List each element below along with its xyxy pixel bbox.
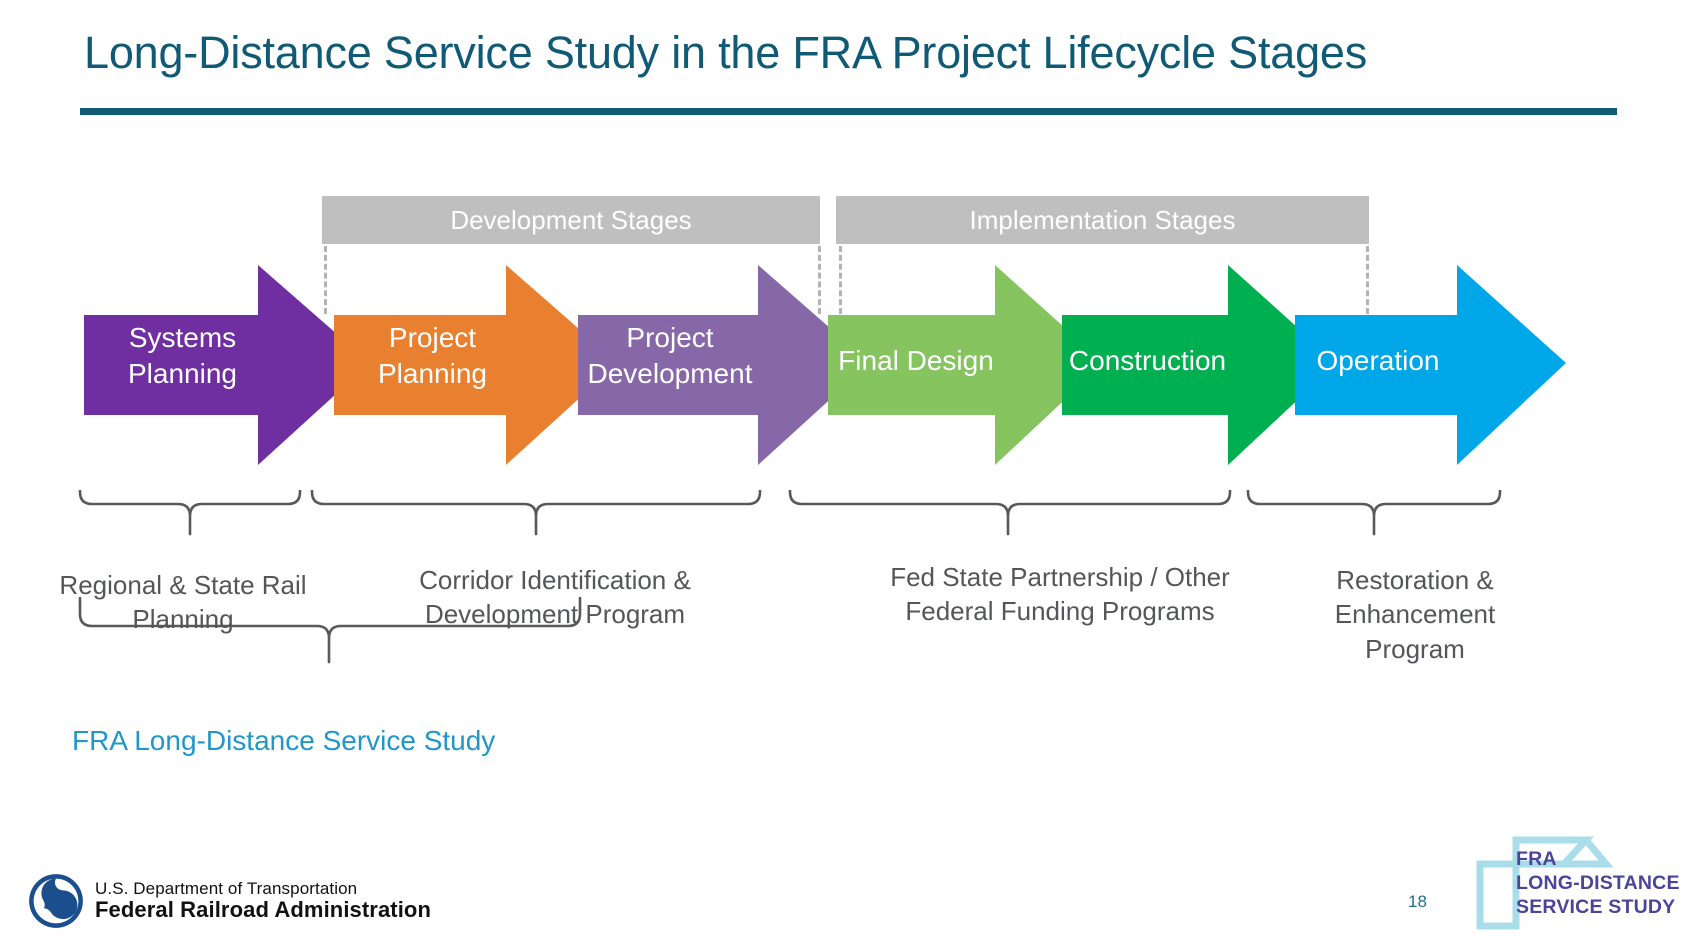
dot-agency-line: Federal Railroad Administration bbox=[95, 898, 431, 923]
dot-fra-logo: U.S. Department of Transportation Federa… bbox=[28, 868, 488, 934]
brace-corridor bbox=[312, 490, 760, 534]
study-logo-line3: SERVICE STUDY bbox=[1516, 896, 1680, 920]
study-logo-line1: FRA bbox=[1516, 848, 1680, 872]
banner-development-label: Development Stages bbox=[450, 205, 691, 236]
dot-department-line: U.S. Department of Transportation bbox=[95, 879, 431, 898]
banner-implementation-label: Implementation Stages bbox=[970, 205, 1236, 236]
caption-regional-state-rail-planning: Regional & State Rail Planning bbox=[38, 568, 328, 637]
arrow-operation[interactable] bbox=[1295, 265, 1566, 465]
caption-fed-state-partnership: Fed State Partnership / Other Federal Fu… bbox=[830, 560, 1290, 629]
study-logo-line2: LONG-DISTANCE bbox=[1516, 872, 1680, 896]
page-title: Long-Distance Service Study in the FRA P… bbox=[84, 28, 1614, 78]
caption-corridor-identification: Corridor Identification & Development Pr… bbox=[350, 563, 760, 632]
brace-fedstate bbox=[790, 490, 1230, 534]
caption-restoration-enhancement: Restoration & Enhancement Program bbox=[1290, 563, 1540, 666]
arrow-project-development[interactable] bbox=[578, 265, 870, 465]
title-divider bbox=[80, 108, 1617, 115]
page-number: 18 bbox=[1408, 892, 1427, 912]
brace-restoration bbox=[1248, 490, 1500, 534]
study-scope-label: FRA Long-Distance Service Study bbox=[72, 725, 495, 757]
brace-regional bbox=[80, 490, 300, 534]
arrow-systems-planning[interactable] bbox=[84, 265, 370, 465]
lifecycle-arrow-chain: Systems Planning Project Planning Projec… bbox=[0, 265, 1698, 500]
dot-triskelion-icon bbox=[28, 873, 84, 929]
banner-development-stages: Development Stages bbox=[322, 196, 820, 244]
arrow-project-planning[interactable] bbox=[334, 265, 618, 465]
study-logo-text: FRA LONG-DISTANCE SERVICE STUDY bbox=[1516, 848, 1680, 919]
banner-implementation-stages: Implementation Stages bbox=[836, 196, 1369, 244]
